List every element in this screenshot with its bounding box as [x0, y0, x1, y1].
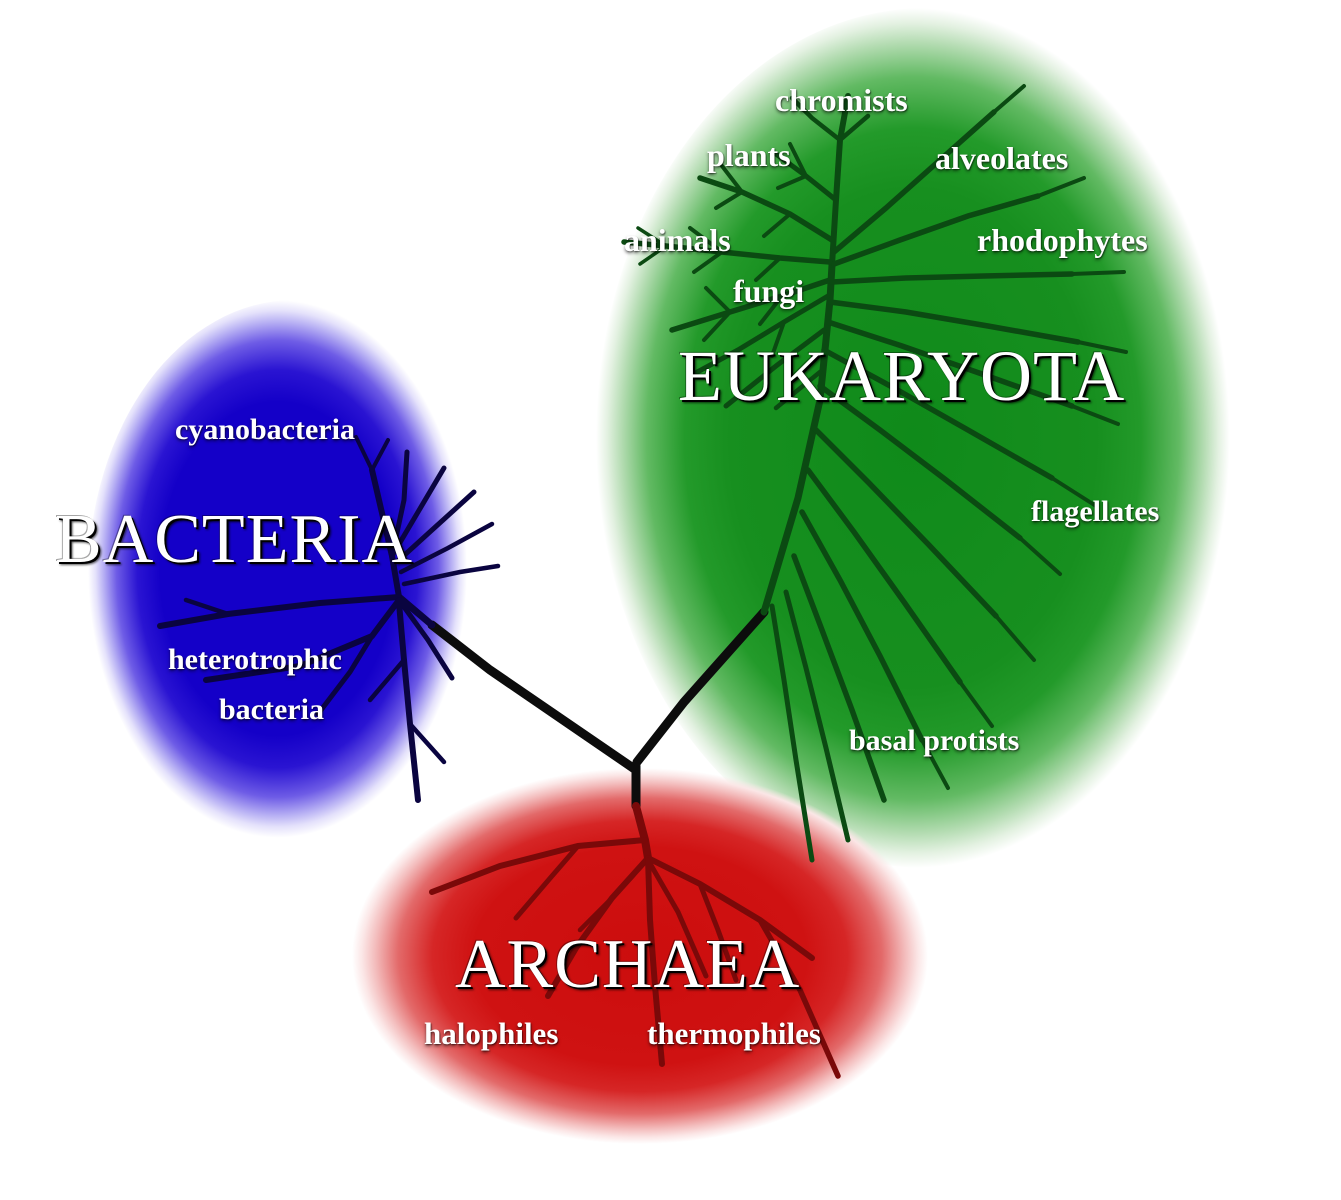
taxon-label-heterotrophic-bacteria-line1: heterotrophic [168, 645, 342, 675]
domain-label-bacteria: BACTERIA [55, 505, 413, 575]
taxon-label-chromists: chromists [775, 84, 908, 116]
taxon-label-basal-protists: basal protists [849, 726, 1019, 756]
taxon-label-heterotrophic-bacteria-line2: bacteria [219, 695, 324, 725]
phylogenetic-tree-diagram: BACTERIA EUKARYOTA ARCHAEA cyanobacteria… [0, 0, 1341, 1200]
taxon-label-cyanobacteria: cyanobacteria [175, 415, 355, 445]
domain-label-eukaryota: EUKARYOTA [678, 340, 1125, 412]
bacteria-branches [160, 437, 498, 800]
taxon-label-fungi: fungi [733, 275, 804, 307]
taxon-label-halophiles: halophiles [424, 1018, 558, 1049]
taxon-label-plants: plants [707, 139, 791, 171]
root-junction [432, 612, 764, 806]
taxon-label-animals: animals [624, 224, 731, 256]
bacteria-domain-blob [88, 300, 500, 860]
domain-label-archaea: ARCHAEA [455, 930, 800, 1000]
taxon-label-alveolates: alveolates [935, 142, 1068, 174]
taxon-label-flagellates: flagellates [1031, 497, 1159, 527]
taxon-label-thermophiles: thermophiles [647, 1018, 821, 1049]
taxon-label-rhodophytes: rhodophytes [977, 224, 1148, 256]
